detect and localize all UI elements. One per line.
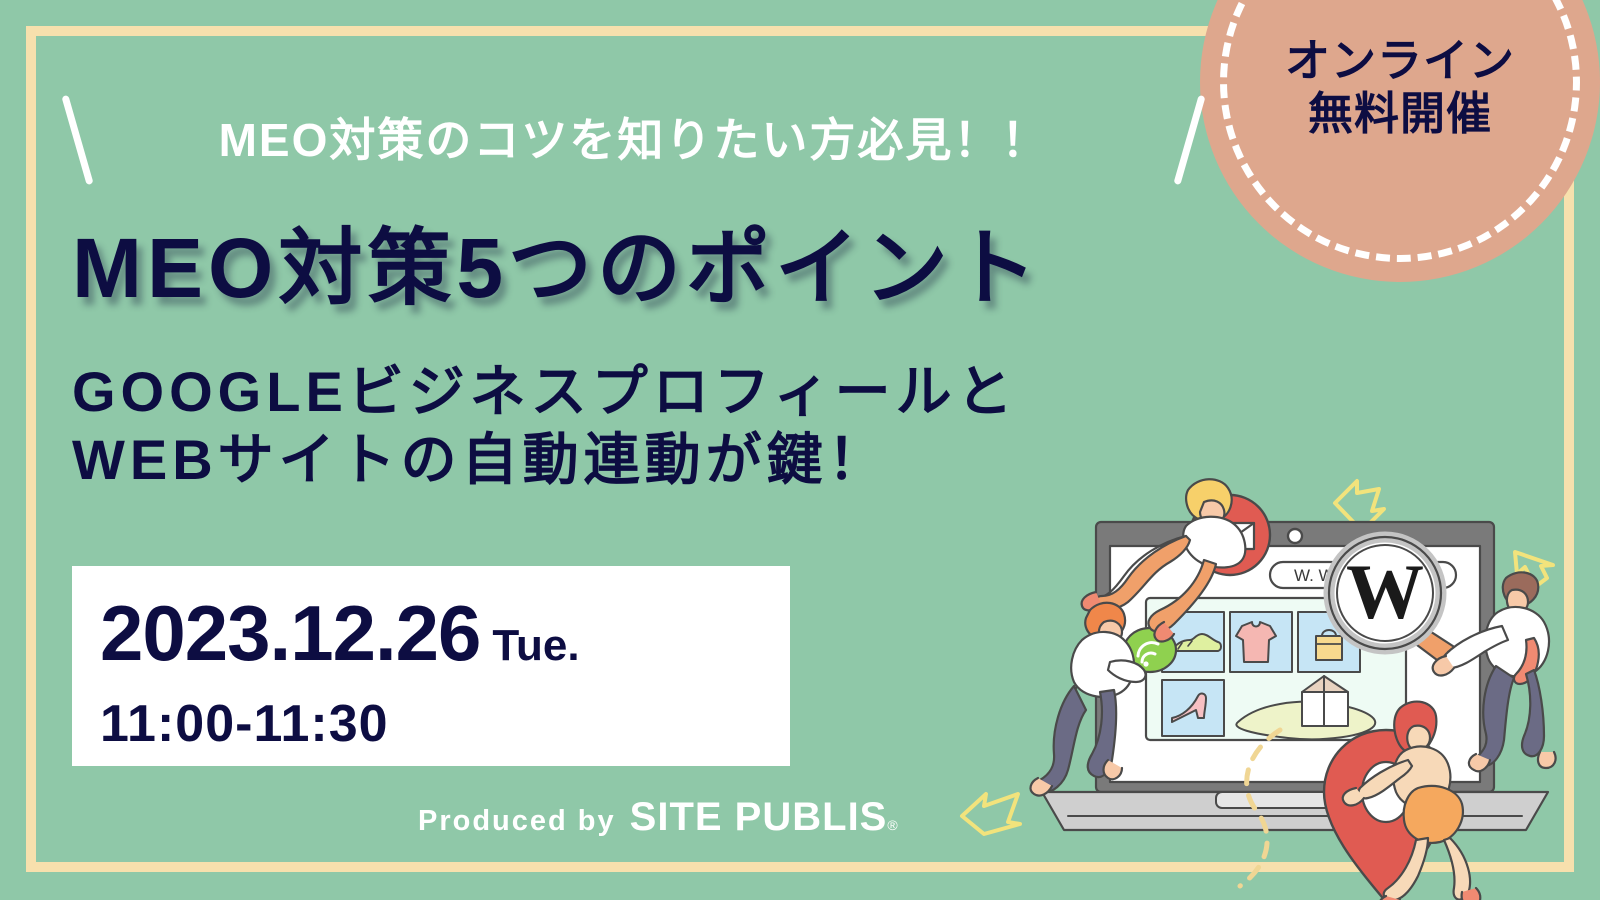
brand-name: SITE PUBLIS (630, 795, 888, 839)
page-subtitle: GOOGLEビジネスプロフィールと WEBサイトの自動連動が鍵！ (72, 358, 1018, 495)
arrow-left-icon (962, 794, 1020, 834)
svg-text:W: W (1346, 548, 1424, 635)
produced-by: Produced bySITE PUBLIS® (418, 795, 898, 840)
produced-by-label: Produced by (418, 805, 616, 837)
badge-line-free: 無料開催 (1200, 87, 1600, 140)
catch-copy-text: MEO対策のコツを知りたい方必見！！ (64, 88, 1204, 193)
badge-text: オンライン 無料開催 (1200, 34, 1600, 140)
badge-line-online: オンライン (1200, 34, 1600, 87)
event-time: 11:00-11:30 (100, 694, 389, 754)
page-title: MEO対策5つのポイント (72, 226, 1042, 310)
online-free-badge: オンライン 無料開催 (1200, 0, 1600, 282)
webinar-banner: オンライン 無料開催 MEO対策のコツを知りたい方必見！！ MEO対策5つのポイ… (0, 0, 1600, 900)
hero-illustration: W. W. (950, 430, 1600, 900)
schedule-box: 2023.12.26Tue. 11:00-11:30 (72, 566, 790, 766)
subtitle-line-1: GOOGLEビジネスプロフィールと (72, 358, 1018, 426)
subtitle-line-2: WEBサイトの自動連動が鍵！ (72, 426, 1018, 494)
event-day-of-week: Tue. (492, 621, 579, 670)
event-date: 2023.12.26 (100, 589, 480, 677)
event-date-line: 2023.12.26Tue. (100, 588, 580, 679)
catch-copy: MEO対策のコツを知りたい方必見！！ (64, 88, 1204, 193)
registered-trademark-icon: ® (887, 817, 897, 833)
